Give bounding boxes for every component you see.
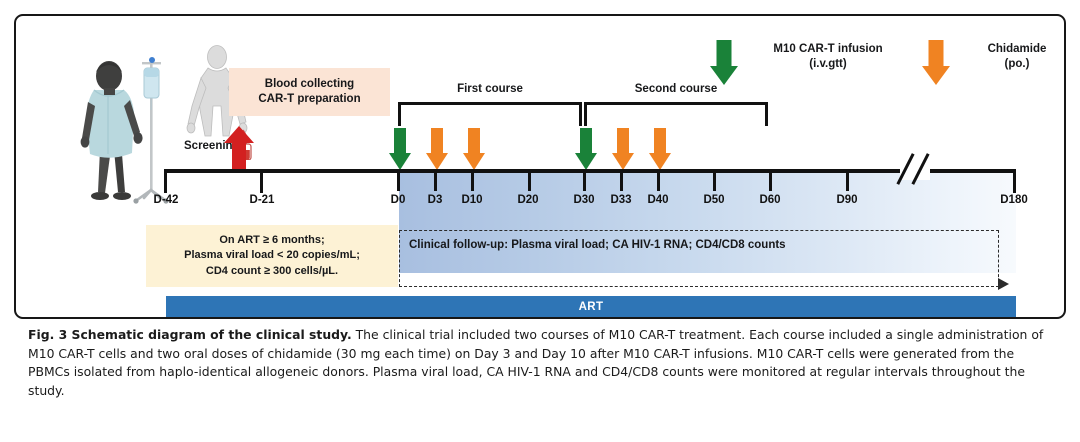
legend-infusion-label: M10 CAR-T infusion (i.v.gtt) (748, 42, 908, 72)
tick-d3 (434, 169, 437, 191)
figure-panel: Blood collecting CAR-T preparation M10 C… (14, 14, 1066, 319)
legend-chidamide-line2: (po.) (1005, 58, 1030, 70)
blood-collecting-box: Blood collecting CAR-T preparation (229, 68, 390, 116)
tick-d60 (769, 169, 772, 191)
tick-label-d180: D180 (988, 194, 1040, 206)
tick-d0 (397, 169, 400, 191)
tick-d-42 (164, 169, 167, 193)
figure-caption: Fig. 3 Schematic diagram of the clinical… (28, 326, 1056, 400)
tick-label-d50: D50 (692, 194, 736, 206)
legend-chidamide-arrow (916, 38, 956, 90)
chidamide-arrow-d3 (428, 128, 445, 171)
tick-d180 (1013, 169, 1016, 193)
tick-label-d90: D90 (825, 194, 869, 206)
blood-box-line2: CAR-T preparation (258, 93, 360, 105)
tick-d30 (583, 169, 586, 191)
caption-lead: Fig. 3 Schematic diagram of the clinical… (28, 327, 352, 342)
infusion-arrow-d30 (577, 128, 594, 171)
tick-d50 (713, 169, 716, 191)
first-course-bracket (398, 102, 582, 126)
tick-label-d10: D10 (450, 194, 494, 206)
legend-infusion-line1: M10 CAR-T infusion (773, 43, 882, 55)
art-bar: ART (166, 296, 1016, 318)
followup-arrow-icon (998, 278, 1009, 290)
clinical-followup-text: Clinical follow-up: Plasma viral load; C… (409, 239, 786, 251)
tick-d90 (846, 169, 849, 191)
second-course-label: Second course (584, 83, 768, 95)
second-course-bracket (584, 102, 768, 126)
timeline-axis (164, 169, 1016, 173)
tick-label-d-42: D-42 (140, 194, 192, 206)
criteria-line2: Plasma viral load < 20 copies/mL; (184, 249, 360, 261)
blood-collection-arrow (223, 126, 255, 171)
tick-d-21 (260, 169, 263, 193)
tick-d40 (657, 169, 660, 191)
tick-label-d20: D20 (506, 194, 550, 206)
chidamide-arrow-d33 (614, 128, 631, 171)
first-course-label: First course (398, 83, 582, 95)
legend-chidamide-line1: Chidamide (988, 43, 1047, 55)
chidamide-arrow-d10 (465, 128, 482, 171)
criteria-line1: On ART ≥ 6 months; (219, 234, 324, 246)
tick-label-d0: D0 (377, 194, 419, 206)
blood-collecting-text: Blood collecting CAR-T preparation (258, 77, 360, 107)
legend-infusion-line2: (i.v.gtt) (809, 58, 846, 70)
clinical-followup-box: Clinical follow-up: Plasma viral load; C… (399, 230, 999, 287)
legend-chidamide-label: Chidamide (po.) (958, 42, 1066, 72)
art-bar-label: ART (579, 301, 604, 313)
inclusion-criteria-text: On ART ≥ 6 months; Plasma viral load < 2… (184, 233, 360, 280)
figure-page: Blood collecting CAR-T preparation M10 C… (0, 0, 1080, 442)
criteria-line3: CD4 count ≥ 300 cells/µL. (206, 265, 338, 277)
tick-d10 (471, 169, 474, 191)
tick-label-d40: D40 (636, 194, 680, 206)
tick-label-d60: D60 (748, 194, 792, 206)
blood-box-line1: Blood collecting (265, 78, 354, 90)
chidamide-arrow-d40 (651, 128, 668, 171)
infusion-arrow-d0 (391, 128, 408, 171)
tick-d20 (528, 169, 531, 191)
tick-d33 (620, 169, 623, 191)
inclusion-criteria-box: On ART ≥ 6 months; Plasma viral load < 2… (146, 225, 398, 287)
tick-label-d-21: D-21 (236, 194, 288, 206)
